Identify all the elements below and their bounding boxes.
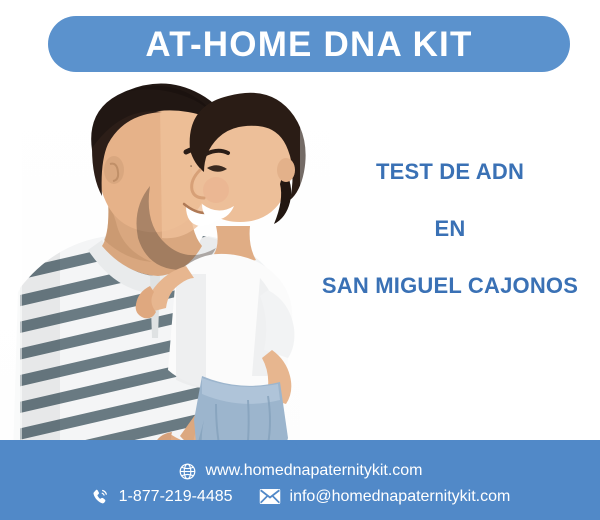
page-title: AT-HOME DNA KIT [145,27,472,62]
child-ear [277,158,295,182]
website-text: www.homednapaternitykit.com [206,463,423,479]
contact-phone[interactable]: 1-877-219-4485 [90,487,233,507]
footer-bar: www.homednapaternitykit.com 1-877-219-44… [0,440,600,520]
dna-kit-promo-banner: AT-HOME DNA KIT [0,0,600,520]
email-text: info@homednapaternitykit.com [290,489,511,505]
footer-row-website: www.homednapaternitykit.com [178,462,423,481]
contact-email[interactable]: info@homednapaternitykit.com [259,488,511,505]
headline-line-3: SAN MIGUEL CAJONOS [300,274,600,297]
headline-block: TEST DE ADN EN SAN MIGUEL CAJONOS [300,160,600,297]
father-holding-toddler-photo [0,78,330,478]
photo-illustration [0,78,330,478]
footer-contacts: www.homednapaternitykit.com 1-877-219-44… [0,448,600,520]
phone-text: 1-877-219-4485 [119,489,233,505]
headline-line-1: TEST DE ADN [300,160,600,183]
contact-website[interactable]: www.homednapaternitykit.com [178,462,423,481]
footer-row-phone-email: 1-877-219-4485 info@homednapaternitykit.… [90,487,511,507]
envelope-icon [259,488,281,505]
phone-icon [90,487,110,507]
globe-icon [178,462,197,481]
header-pill: AT-HOME DNA KIT [48,16,570,72]
headline-line-2: EN [300,217,600,240]
